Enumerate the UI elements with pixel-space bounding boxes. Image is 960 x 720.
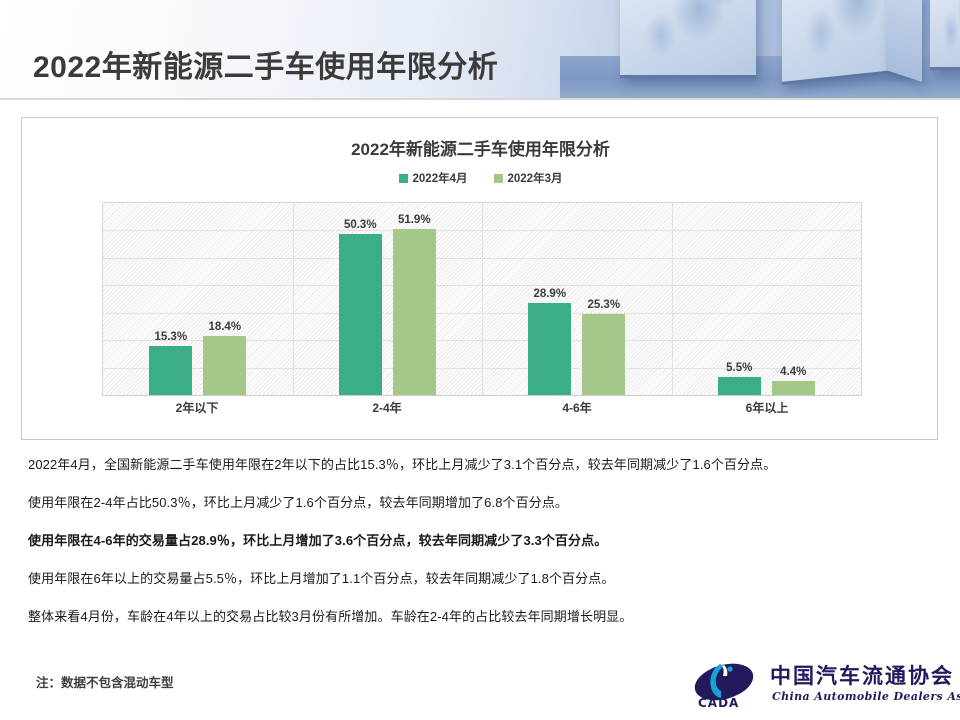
bar-column[interactable]: 15.3%: [149, 203, 192, 395]
bar-column[interactable]: 25.3%: [582, 203, 625, 395]
analysis-text-block: 2022年4月，全国新能源二手车使用年限在2年以下的占比15.3％，环比上月减少…: [28, 452, 932, 630]
chart-plot-area: 15.3%18.4%50.3%51.9%28.9%25.3%5.5%4.4%: [102, 202, 862, 396]
bar[interactable]: [582, 314, 625, 395]
bar-value-label: 18.4%: [190, 321, 260, 333]
page-title: 2022年新能源二手车使用年限分析: [33, 42, 498, 86]
bar-group: 5.5%4.4%: [672, 203, 862, 395]
x-axis-tick-label: 4-6年: [482, 399, 672, 416]
cada-name-cn: 中国汽车流通协会: [770, 660, 954, 690]
header-divider: [0, 98, 960, 100]
bar-column[interactable]: 18.4%: [203, 203, 246, 395]
analysis-paragraph: 使用年限在4-6年的交易量占28.9％，环比上月增加了3.6个百分点，较去年同期…: [28, 528, 932, 554]
chart-title: 2022年新能源二手车使用年限分析: [22, 135, 939, 160]
cada-name-en: China Automobile Dealers Association: [772, 690, 960, 703]
decorative-cube-icon: [620, 0, 756, 78]
bar-column[interactable]: 5.5%: [718, 203, 761, 395]
chart-legend: 2022年4月 2022年3月: [22, 170, 939, 186]
bar-column[interactable]: 50.3%: [339, 203, 382, 395]
bar-column[interactable]: 51.9%: [393, 203, 436, 395]
footnote: 注：数据不包含混动车型: [36, 672, 174, 691]
bar-group: 50.3%51.9%: [293, 203, 483, 395]
bar-column[interactable]: 28.9%: [528, 203, 571, 395]
bar[interactable]: [149, 346, 192, 395]
bar-group: 28.9%25.3%: [482, 203, 672, 395]
bar-column[interactable]: 4.4%: [772, 203, 815, 395]
legend-item-previous[interactable]: 2022年3月: [494, 170, 563, 186]
analysis-paragraph: 整体来看4月份，车龄在4年以上的交易占比较3月份有所增加。车龄在2-4年的占比较…: [28, 604, 932, 630]
legend-swatch-icon: [399, 174, 408, 183]
legend-label: 2022年3月: [508, 170, 563, 186]
bar[interactable]: [528, 303, 571, 395]
chart-x-axis: 2年以下2-4年4-6年6年以上: [102, 399, 862, 416]
bar[interactable]: [203, 336, 246, 395]
decorative-cube-icon: [930, 0, 960, 70]
cada-abbr: CADA: [698, 696, 739, 710]
analysis-paragraph: 使用年限在2-4年占比50.3％，环比上月减少了1.6个百分点，较去年同期增加了…: [28, 490, 932, 516]
bar[interactable]: [718, 377, 761, 395]
bar-value-label: 28.9%: [515, 288, 585, 300]
bar[interactable]: [393, 229, 436, 395]
bar-value-label: 4.4%: [758, 366, 828, 378]
bar-value-label: 51.9%: [379, 214, 449, 226]
chart-card: 2022年新能源二手车使用年限分析 2022年4月 2022年3月 15.3%1…: [21, 117, 938, 440]
decorative-cube-side-icon: [886, 0, 922, 82]
bar-group: 15.3%18.4%: [103, 203, 293, 395]
x-axis-tick-label: 6年以上: [672, 399, 862, 416]
x-axis-tick-label: 2年以下: [102, 399, 292, 416]
bar-value-label: 25.3%: [569, 299, 639, 311]
legend-item-current[interactable]: 2022年4月: [399, 170, 468, 186]
page-header-banner: 2022年新能源二手车使用年限分析: [0, 0, 960, 98]
bar[interactable]: [339, 234, 382, 395]
legend-label: 2022年4月: [413, 170, 468, 186]
legend-swatch-icon: [494, 174, 503, 183]
x-axis-tick-label: 2-4年: [292, 399, 482, 416]
analysis-paragraph: 使用年限在6年以上的交易量占5.5％，环比上月增加了1.1个百分点，较去年同期减…: [28, 566, 932, 592]
analysis-paragraph: 2022年4月，全国新能源二手车使用年限在2年以下的占比15.3％，环比上月减少…: [28, 452, 932, 478]
cada-logo: CADA 中国汽车流通协会 China Automobile Dealers A…: [690, 658, 938, 716]
chart-bars: 15.3%18.4%50.3%51.9%28.9%25.3%5.5%4.4%: [103, 203, 861, 395]
bar[interactable]: [772, 381, 815, 395]
